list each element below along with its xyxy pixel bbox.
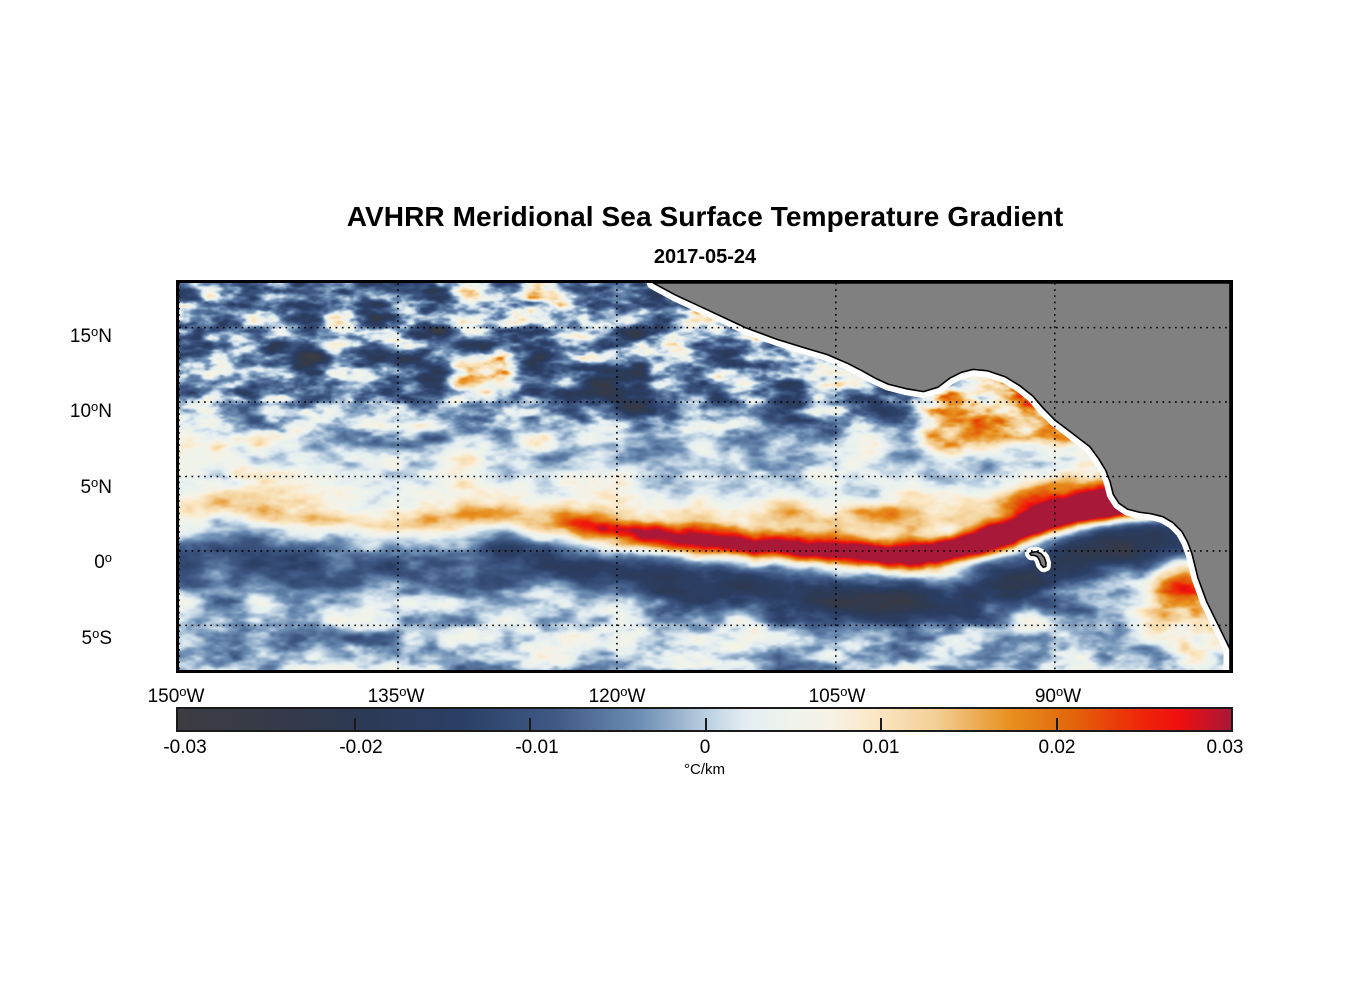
x-tick-label-1: 135oW [368, 682, 425, 706]
colorbar-tick-label-1: -0.02 [339, 738, 382, 757]
colorbar-tick-label-5: 0.02 [1039, 738, 1076, 757]
x-tick-label-0: 150oW [148, 682, 205, 706]
colorbar-tick-label-3: 0 [700, 738, 711, 757]
colorbar-tick-label-2: -0.01 [515, 738, 558, 757]
x-tick-label-2: 120oW [589, 682, 646, 706]
date-subtitle: 2017-05-24 [176, 244, 1234, 270]
title-block: AVHRR Meridional Sea Surface Temperature… [176, 200, 1234, 270]
colorbar-tick-label-4: 0.01 [863, 738, 900, 757]
colorbar-tick-label-6: 0.03 [1207, 738, 1244, 757]
colorbar-unit-text: °C/km [684, 761, 725, 778]
x-tick-label-4: 90oW [1035, 682, 1081, 706]
colorbar-tick-0 [354, 718, 356, 732]
page-title: AVHRR Meridional Sea Surface Temperature… [176, 200, 1234, 234]
y-tick-label-2: 5oN [80, 473, 112, 497]
figure-canvas: AVHRR Meridional Sea Surface Temperature… [0, 0, 1356, 1000]
y-tick-label-3: 0o [94, 548, 112, 572]
colorbar-tick-label-0: -0.03 [163, 738, 206, 757]
colorbar-tick-1 [529, 718, 531, 732]
y-tick-label-1: 10oN [70, 397, 112, 421]
x-tick-label-3: 105oW [809, 682, 866, 706]
gridlines [179, 283, 1230, 670]
colorbar-tick-2 [705, 718, 707, 732]
colorbar-unit-label: °C/km [176, 761, 1233, 779]
colorbar-tick-3 [880, 718, 882, 732]
y-tick-label-0: 15oN [70, 322, 112, 346]
colorbar[interactable] [176, 707, 1233, 732]
map-axes[interactable] [176, 280, 1233, 673]
y-tick-label-4: 5oS [82, 624, 113, 648]
colorbar-tick-4 [1056, 718, 1058, 732]
